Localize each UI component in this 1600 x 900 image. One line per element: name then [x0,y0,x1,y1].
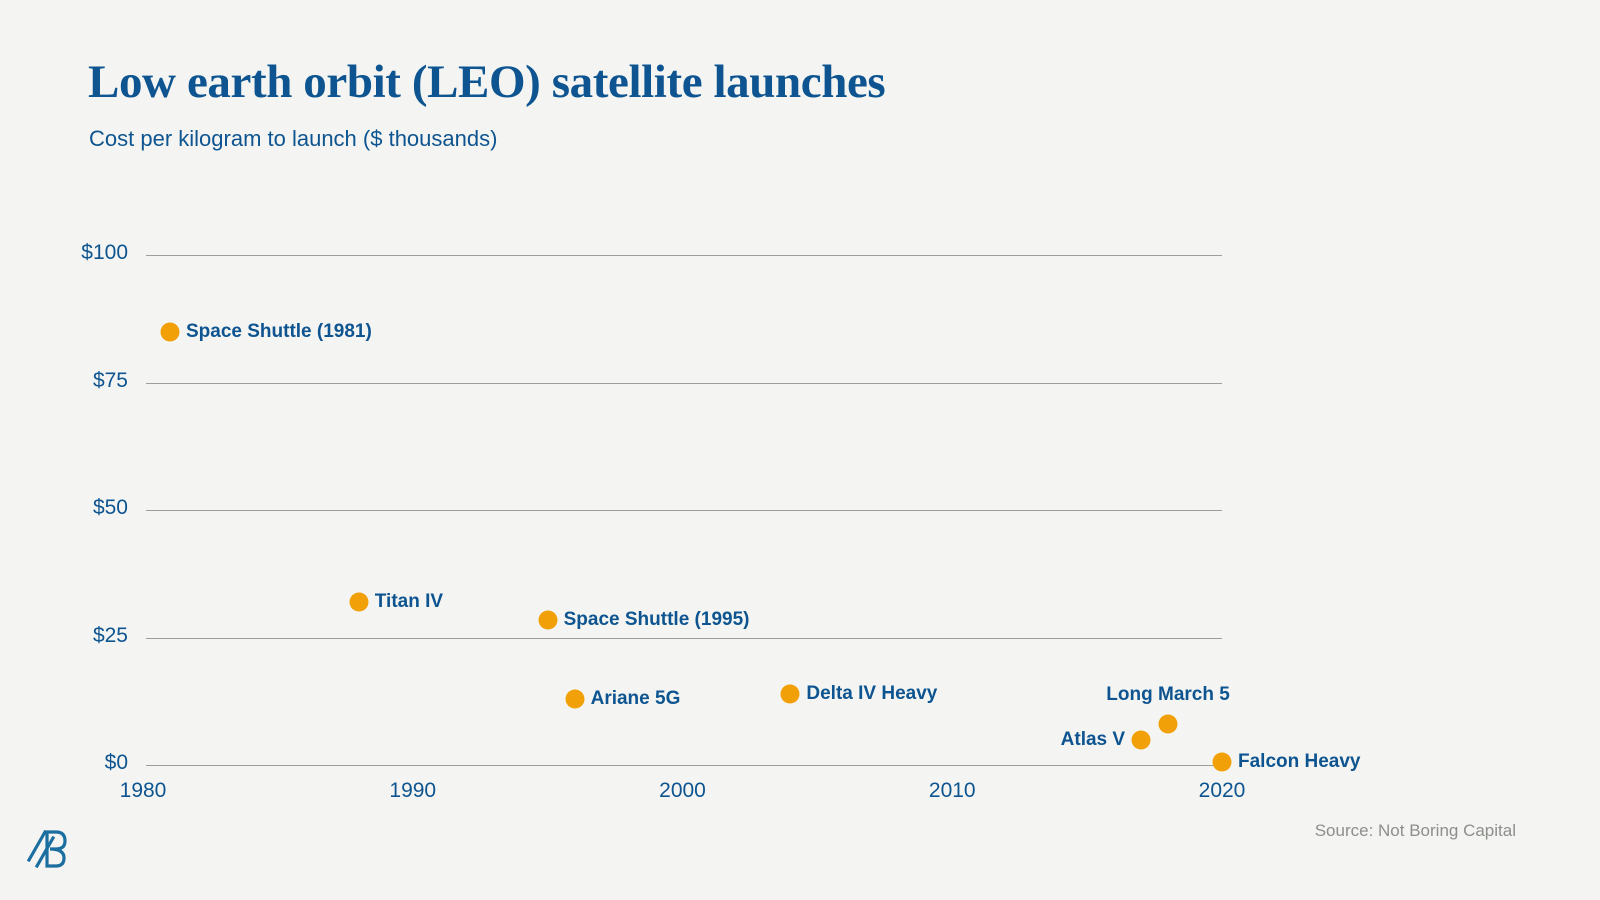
data-point[interactable] [781,684,800,703]
gridline [146,255,1222,256]
x-axis-tick-label: 2020 [1199,779,1246,803]
y-axis-tick-label: $25 [36,624,128,648]
data-point[interactable] [1132,730,1151,749]
data-point-label: Long March 5 [1106,684,1230,706]
data-point[interactable] [538,610,557,629]
data-point[interactable] [565,689,584,708]
data-point-label: Titan IV [375,591,443,613]
scatter-plot: $0$25$50$75$10019801990200020102020Space… [0,0,1600,900]
data-point-label: Atlas V [1061,729,1125,751]
chart-page: Low earth orbit (LEO) satellite launches… [0,0,1600,900]
source-note: Source: Not Boring Capital [1315,821,1516,841]
y-axis-tick-label: $100 [36,241,128,265]
data-point[interactable] [1159,715,1178,734]
x-axis-tick-label: 1990 [389,779,436,803]
data-point-label: Delta IV Heavy [806,683,937,705]
data-point-label: Ariane 5G [591,688,681,710]
x-axis-tick-label: 2000 [659,779,706,803]
gridline [146,638,1222,639]
not-boring-logo [26,822,72,874]
gridline [146,383,1222,384]
data-point-label: Space Shuttle (1995) [564,609,750,631]
data-point-label: Falcon Heavy [1238,751,1361,773]
y-axis-tick-label: $50 [36,496,128,520]
y-axis-tick-label: $75 [36,369,128,393]
data-point[interactable] [1213,753,1232,772]
gridline [146,765,1222,766]
data-point-label: Space Shuttle (1981) [186,321,372,343]
gridline [146,510,1222,511]
data-point[interactable] [160,322,179,341]
y-axis-tick-label: $0 [36,751,128,775]
x-axis-tick-label: 1980 [120,779,167,803]
x-axis-tick-label: 2010 [929,779,976,803]
data-point[interactable] [349,592,368,611]
